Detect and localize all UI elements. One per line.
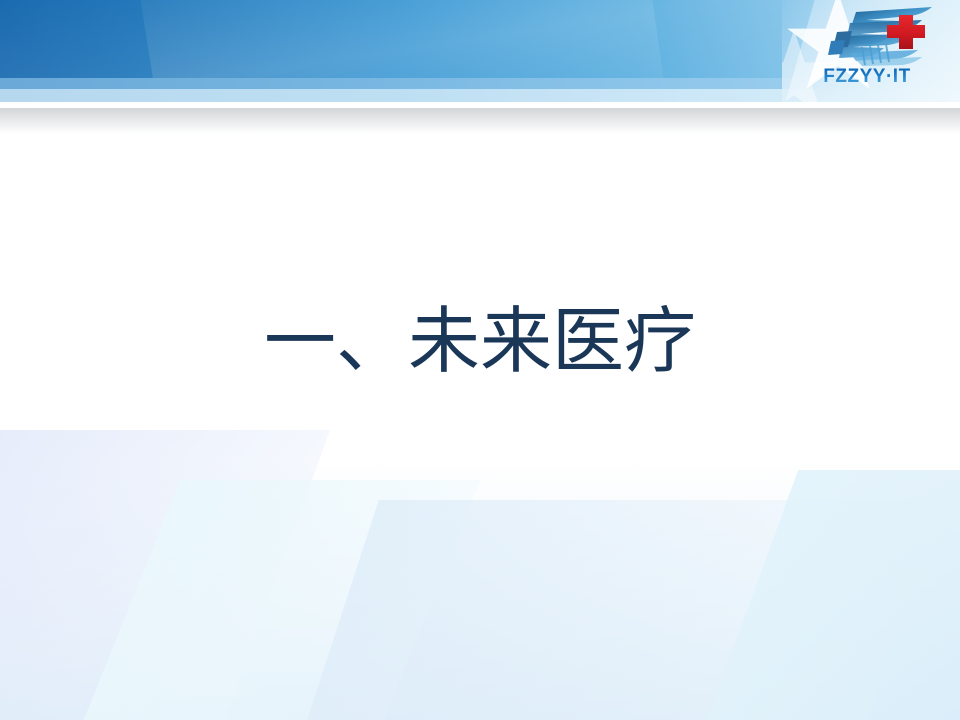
header-drop-shadow — [0, 108, 960, 134]
slide-canvas: FZZYY·IT 一、未来医疗 — [0, 0, 960, 720]
header-light-streak-secondary — [0, 0, 677, 78]
title-container: 一、未来医疗 — [0, 300, 960, 383]
page-title: 一、未来医疗 — [264, 300, 696, 383]
bottom-gradient-wash — [0, 460, 960, 720]
logo-panel: FZZYY·IT — [782, 0, 960, 102]
swoosh-icon — [826, 3, 946, 69]
background-diagonal-shape-3 — [281, 500, 938, 720]
background-diagonal-shape-4 — [682, 470, 960, 720]
background-diagonal-shape-1 — [0, 430, 330, 720]
background-diagonal-shape-2 — [59, 480, 480, 720]
logo-wordmark: FZZYY·IT — [782, 66, 952, 88]
slide-header: FZZYY·IT — [0, 0, 960, 102]
